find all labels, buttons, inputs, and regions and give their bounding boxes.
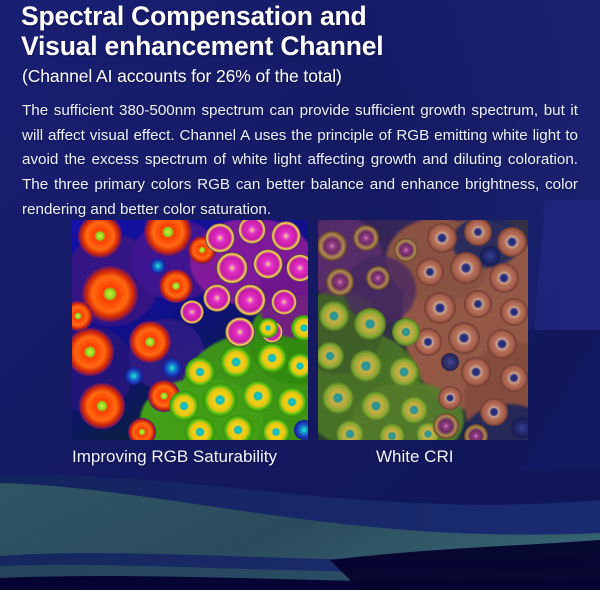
page-title-line-1: Spectral Compensation and: [21, 2, 581, 32]
coral-photo-white-cri: [318, 220, 528, 440]
slide-canvas: Spectral Compensation and Visual enhance…: [0, 0, 600, 590]
page-title: Spectral Compensation and Visual enhance…: [21, 2, 581, 62]
page-subtitle: (Channel AI accounts for 26% of the tota…: [22, 66, 342, 87]
body-paragraph: The sufficient 380-500nm spectrum can pr…: [22, 99, 578, 222]
figure-row: [72, 220, 528, 440]
figure-caption-rgb-saturated: Improving RGB Saturability: [72, 447, 277, 467]
figure-caption-white-cri: White CRI: [376, 447, 453, 467]
figure-image-white-cri: [318, 220, 528, 440]
figure-image-rgb-saturated: [72, 220, 308, 440]
slide-content: Spectral Compensation and Visual enhance…: [0, 0, 600, 590]
coral-photo-saturated: [72, 220, 308, 440]
page-title-line-2: Visual enhancement Channel: [21, 32, 581, 62]
